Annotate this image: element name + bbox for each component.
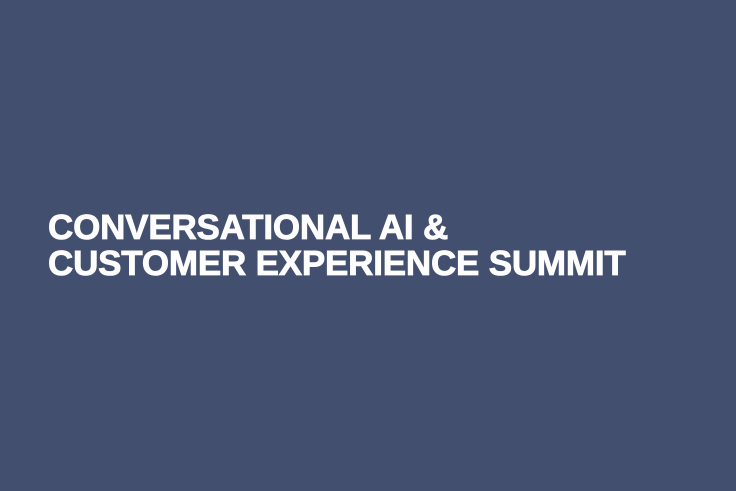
page-title: CONVERSATIONAL AI & CUSTOMER EXPERIENCE …	[48, 210, 626, 282]
event-banner: CONVERSATIONAL AI & CUSTOMER EXPERIENCE …	[0, 0, 736, 491]
headline-line-1: CONVERSATIONAL AI &	[48, 210, 626, 246]
headline-line-2: CUSTOMER EXPERIENCE SUMMIT	[48, 246, 626, 282]
